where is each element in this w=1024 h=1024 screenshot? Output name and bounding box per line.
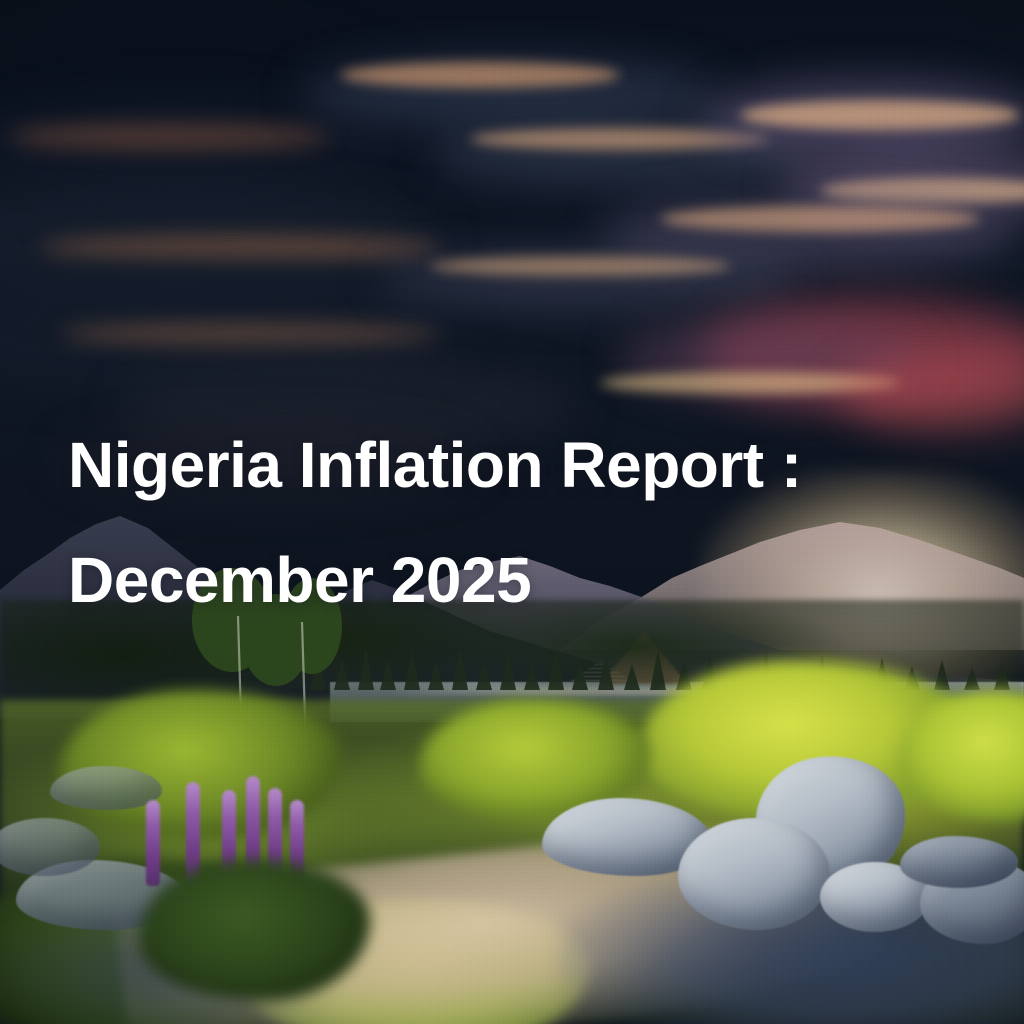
lupine-flower-1 [146, 800, 160, 886]
cloud-peach-upperright [740, 100, 1020, 130]
cloud-warm-left-streak2 [60, 324, 440, 344]
boulder-meadow-left [50, 766, 162, 810]
title-line-1: Nigeria Inflation Report : [68, 408, 968, 523]
cloud-band-left-warm [10, 124, 330, 150]
lupine-foliage [140, 860, 370, 1000]
cloud-peach-right [660, 206, 980, 232]
title-slide: Nigeria Inflation Report : December 2025 [0, 0, 1024, 1024]
cloud-warm-left-streak [40, 236, 440, 260]
boulder-edge-right [900, 836, 1018, 888]
boulder-round-mid [678, 818, 830, 930]
title-line-2: December 2025 [68, 523, 968, 638]
page-title: Nigeria Inflation Report : December 2025 [68, 408, 968, 638]
cloud-peach-low [430, 256, 730, 276]
cloud-peach-center [340, 62, 620, 88]
